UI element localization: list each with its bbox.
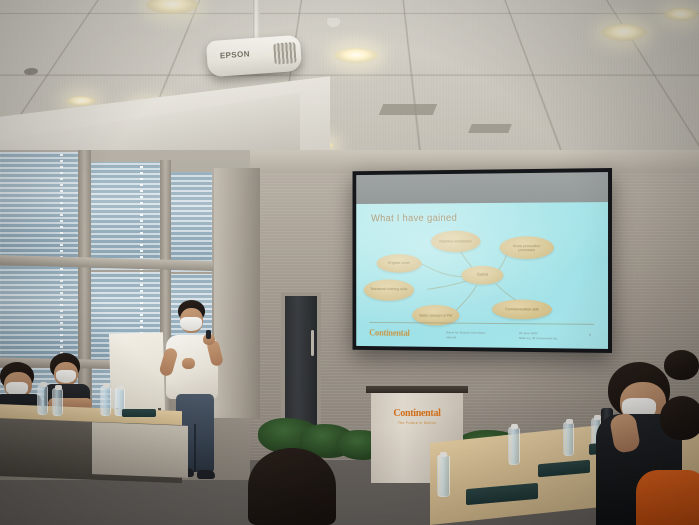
ceiling-air-vent (468, 124, 512, 133)
mind-map-node-center: Gains (461, 266, 503, 285)
water-bottle[interactable] (437, 455, 450, 497)
presenter-leg-division (194, 424, 196, 472)
node-label: Gains (477, 273, 489, 278)
attendee-torso-orange (636, 470, 699, 525)
attendee-hair (248, 448, 336, 525)
window-pane (170, 172, 212, 272)
node-label: English Level (388, 261, 410, 265)
water-bottle[interactable] (563, 422, 574, 456)
attendee-face-mask (56, 370, 76, 383)
projection-screen: What I have gained (353, 168, 612, 353)
presenter-face-mask (180, 317, 202, 331)
logo-text: ntinental (379, 328, 410, 338)
mind-map-node-teamwork: Teamwork/ training skills (364, 279, 414, 301)
window-pane (0, 266, 78, 366)
slide-meta-left: Name for Society information internal (446, 330, 486, 339)
mind-map-node-machine: Machine installation (431, 231, 480, 253)
wall-column (214, 168, 260, 418)
meeting-room-scene: EPSON (0, 0, 699, 525)
downlight (334, 48, 378, 63)
attendee-hair (664, 350, 699, 380)
podium-top-surface (366, 386, 468, 393)
door-handle[interactable] (311, 330, 314, 356)
attendee-hair (660, 396, 699, 440)
window-pane (90, 162, 160, 270)
window-blinds (0, 266, 78, 366)
downlight (664, 8, 698, 21)
slide-footer: Continental Name for Society information… (356, 326, 608, 349)
downlight (601, 24, 647, 41)
presenter-shoe (197, 470, 215, 479)
water-bottle[interactable] (37, 385, 48, 415)
presentation-slide: What I have gained (356, 202, 608, 349)
logo-prefix: Co (369, 328, 379, 338)
window-blinds (0, 152, 78, 264)
notebook[interactable] (122, 409, 156, 417)
node-label: Teamwork/ training skills (370, 288, 407, 292)
node-label: Machine installation (439, 239, 471, 243)
mind-map-node-communication: Communication skill (492, 299, 552, 319)
node-label: Communication skill (505, 307, 539, 311)
left-table-panel (92, 422, 188, 478)
slide-page-number: 8 (589, 333, 591, 338)
window-blinds (90, 162, 160, 270)
node-label: Basic concept of PM (419, 313, 452, 317)
continental-logo: Continental (369, 328, 409, 338)
podium-tagline: The Future in Motion (371, 421, 463, 425)
wall-upper-band (246, 150, 699, 172)
slide-meta-right: 30 June 2022 Nhân Lý, IB Continental Inc… (519, 331, 558, 340)
water-bottle[interactable] (100, 386, 111, 416)
node-label: Know production processes (504, 244, 549, 252)
projector-body: EPSON (206, 35, 302, 77)
blind-cord (60, 266, 63, 366)
podium-logo: Continental (371, 408, 463, 419)
water-bottle[interactable] (52, 388, 63, 416)
window-blinds (170, 172, 212, 272)
presenter-clicker (206, 330, 211, 339)
door[interactable] (285, 296, 317, 428)
projector-brand-label: EPSON (220, 49, 251, 60)
presenter-left-hand (182, 358, 195, 369)
projector-vent (273, 42, 296, 64)
meta-left-line2: internal (446, 335, 486, 340)
blind-cord (60, 152, 63, 264)
mind-map-node-english: English Level (377, 254, 422, 273)
water-bottle[interactable] (508, 427, 520, 465)
projector-mount-pole (253, 0, 260, 40)
ceiling-air-vent (379, 104, 437, 115)
blind-cord (140, 162, 143, 270)
meta-right-line2: Nhân Lý, IB Continental Inc. (519, 336, 558, 341)
mind-map-node-production: Know production processes (500, 236, 554, 259)
window-pane (0, 152, 78, 264)
